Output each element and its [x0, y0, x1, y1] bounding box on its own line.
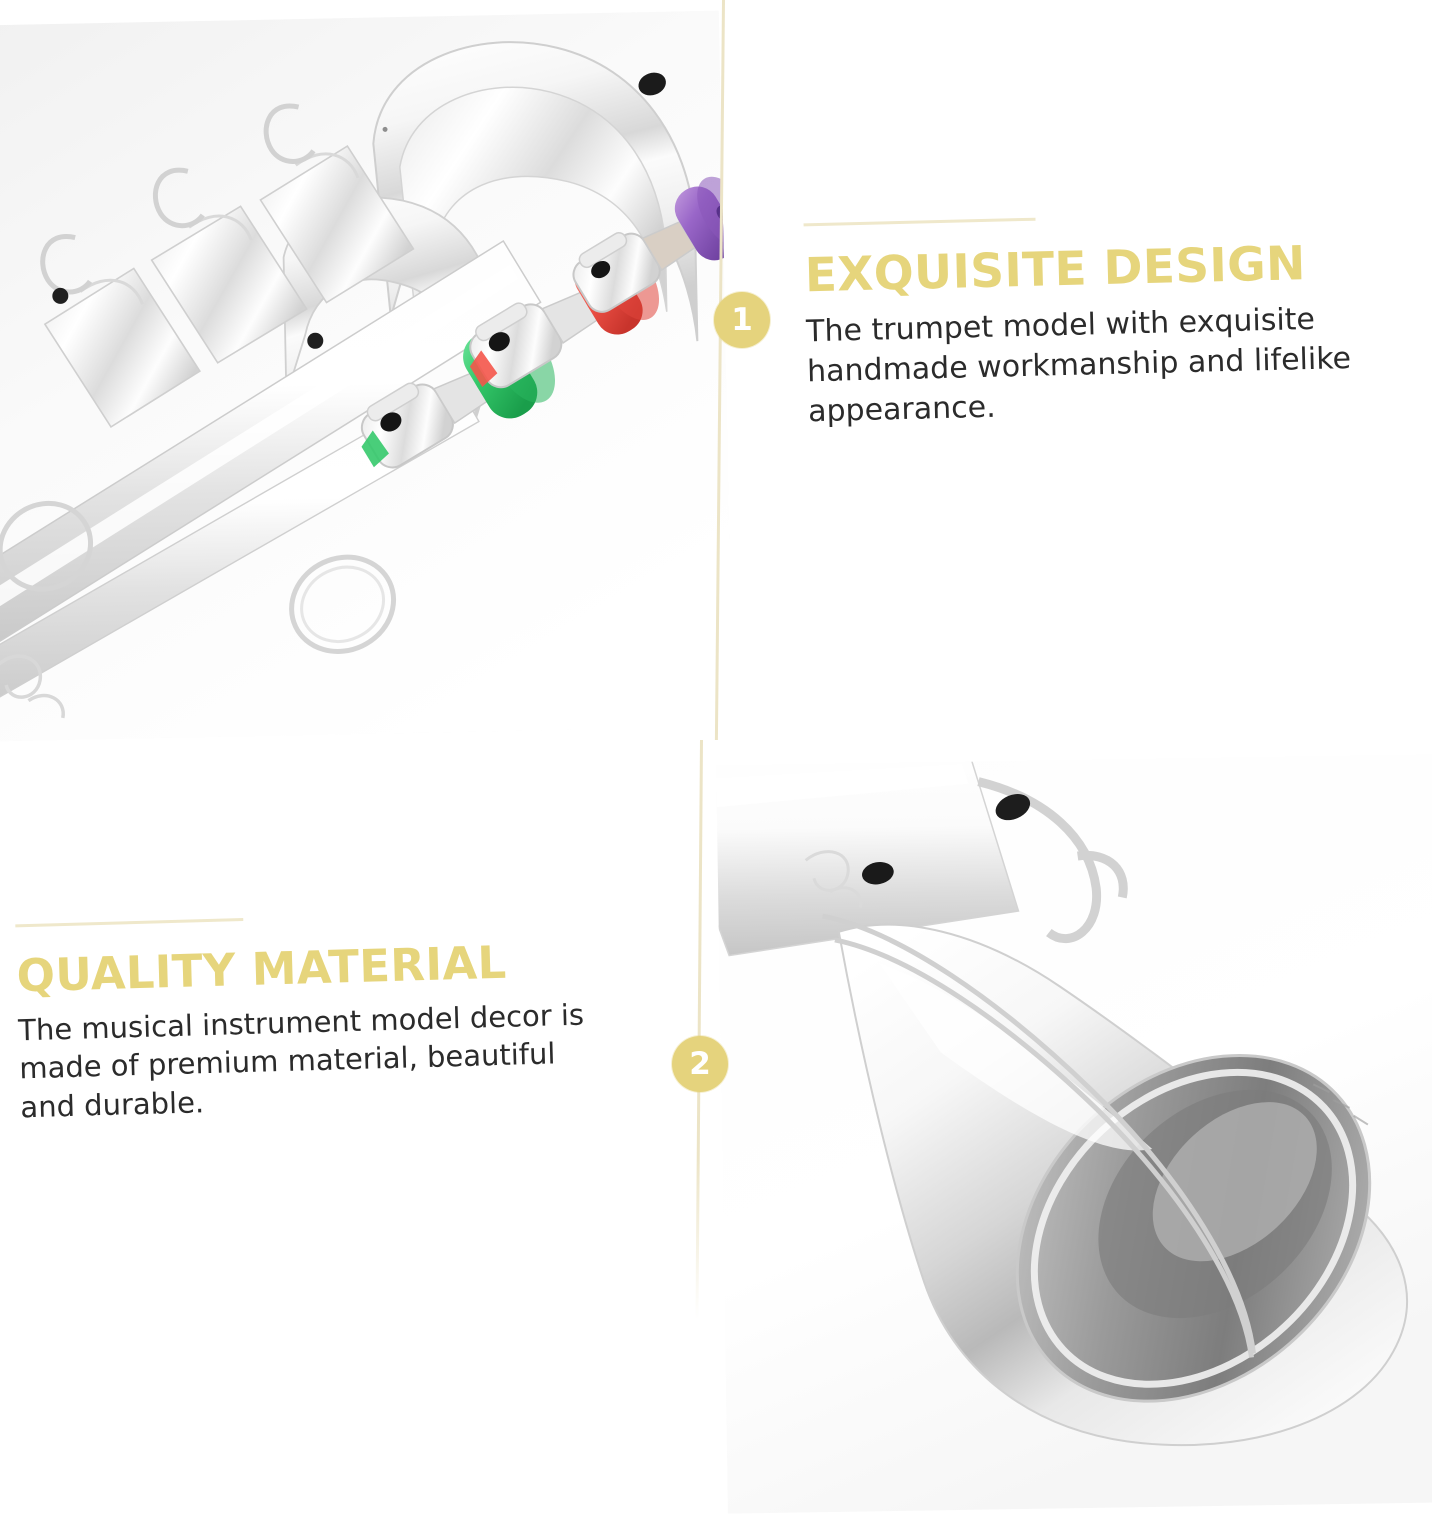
feature-body-1: The trumpet model with exquisite handmad…	[806, 298, 1409, 432]
photo-trumpet-bell-content	[716, 754, 1432, 1513]
accent-rule-1	[804, 218, 1036, 227]
photo-trumpet-valves-content	[0, 11, 733, 742]
product-feature-page: EXQUISITE DESIGN The trumpet model with …	[0, 0, 1432, 1500]
feature-badge-1: 1	[714, 292, 770, 348]
photo-trumpet-bell	[716, 754, 1432, 1513]
photo-trumpet-valves	[0, 11, 733, 742]
vertical-divider-bottom	[695, 740, 703, 1320]
accent-rule-2	[15, 918, 243, 927]
feature-title-2: QUALITY MATERIAL	[16, 937, 617, 1000]
feature-block-quality-material: QUALITY MATERIAL The musical instrument …	[15, 908, 620, 1127]
feature-title-1: EXQUISITE DESIGN	[804, 238, 1405, 301]
feature-badge-2: 2	[672, 1036, 728, 1092]
feature-body-2: The musical instrument model decor is ma…	[18, 995, 621, 1127]
trumpet-valves-illustration	[0, 11, 733, 742]
trumpet-bell-illustration	[716, 754, 1432, 1513]
feature-block-exquisite-design: EXQUISITE DESIGN The trumpet model with …	[804, 209, 1409, 432]
